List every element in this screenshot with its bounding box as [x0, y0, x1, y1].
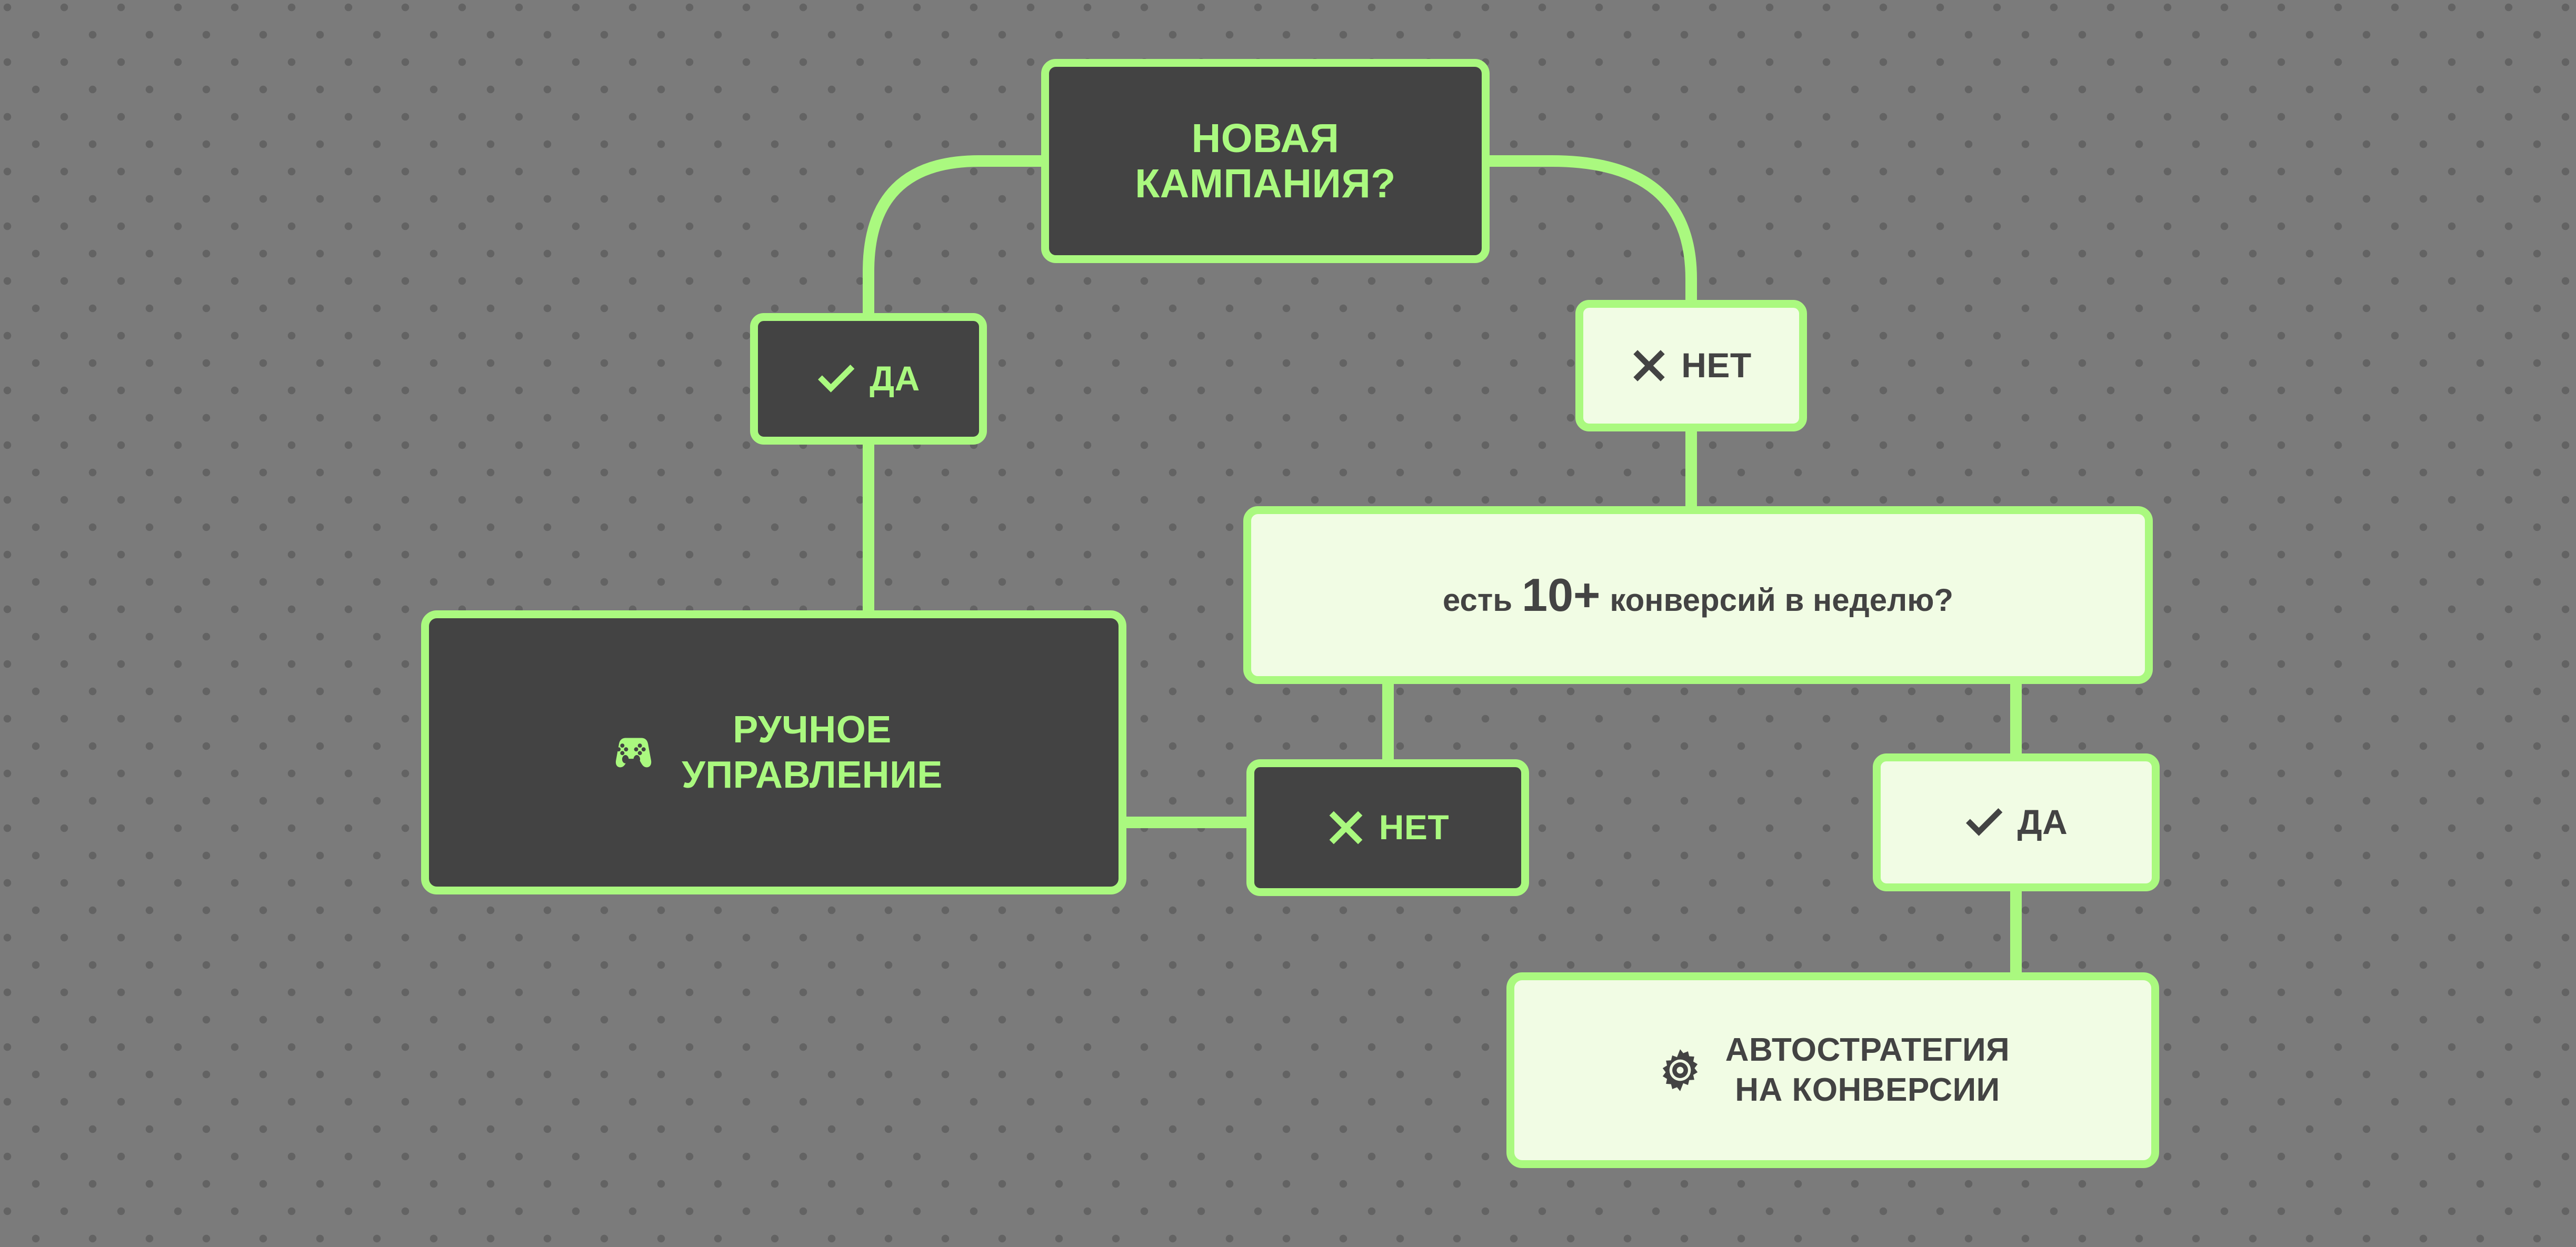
gamepad-icon [605, 726, 657, 779]
node-manual-control[interactable]: РУЧНОЕ УПРАВЛЕНИЕ [421, 610, 1126, 894]
node-new-campaign[interactable]: НОВАЯ КАМПАНИЯ? [1041, 59, 1490, 263]
cross-icon [1631, 347, 1668, 384]
question-suffix: конверсий в неделю? [1610, 582, 1953, 618]
cross-icon [1326, 808, 1365, 847]
node-new-campaign-line2: КАМПАНИЯ? [1135, 161, 1396, 206]
badge-no-mid-label: НЕТ [1379, 808, 1450, 847]
question-threshold: 10+ [1522, 568, 1600, 622]
node-new-campaign-content: НОВАЯ КАМПАНИЯ? [1135, 116, 1396, 206]
badge-no-top[interactable]: НЕТ [1575, 300, 1807, 431]
badge-no-mid[interactable]: НЕТ [1246, 759, 1529, 896]
node-question-content: есть 10+ конверсий в неделю? [1443, 568, 1953, 622]
node-manual-control-line2: УПРАВЛЕНИЕ [682, 752, 943, 798]
node-manual-control-line1: РУЧНОЕ [682, 707, 943, 752]
check-icon [1965, 803, 2004, 842]
node-auto-strategy-line2: НА КОНВЕРСИИ [1725, 1070, 2010, 1110]
gear-icon [1656, 1046, 1704, 1094]
node-auto-strategy-label: АВТОСТРАТЕГИЯ НА КОНВЕРСИИ [1725, 1030, 2010, 1110]
node-manual-control-label: РУЧНОЕ УПРАВЛЕНИЕ [682, 707, 943, 798]
edge-newcampaign-to-no [1490, 161, 1691, 306]
badge-yes-mid-label: ДА [2018, 803, 2068, 842]
check-icon [817, 359, 856, 398]
node-question-conversions[interactable]: есть 10+ конверсий в неделю? [1243, 506, 2153, 684]
badge-yes-mid-content: ДА [1965, 803, 2068, 842]
diagram-canvas: НОВАЯ КАМПАНИЯ? ДА НЕТ [0, 0, 2576, 1247]
badge-no-mid-content: НЕТ [1326, 808, 1450, 847]
node-new-campaign-label: НОВАЯ КАМПАНИЯ? [1135, 116, 1396, 206]
badge-yes-top[interactable]: ДА [750, 313, 987, 445]
badge-no-top-label: НЕТ [1681, 346, 1752, 385]
node-manual-control-content: РУЧНОЕ УПРАВЛЕНИЕ [605, 707, 943, 798]
edge-newcampaign-to-yes [868, 161, 1041, 319]
badge-yes-top-content: ДА [817, 359, 920, 398]
badge-yes-top-label: ДА [870, 359, 920, 398]
badge-yes-mid[interactable]: ДА [1873, 753, 2160, 891]
question-prefix: есть [1443, 582, 1512, 618]
node-auto-strategy[interactable]: АВТОСТРАТЕГИЯ НА КОНВЕРСИИ [1506, 972, 2159, 1168]
node-auto-strategy-content: АВТОСТРАТЕГИЯ НА КОНВЕРСИИ [1656, 1030, 2010, 1110]
node-auto-strategy-line1: АВТОСТРАТЕГИЯ [1725, 1030, 2010, 1070]
badge-no-top-content: НЕТ [1631, 346, 1752, 385]
node-new-campaign-line1: НОВАЯ [1135, 116, 1396, 161]
